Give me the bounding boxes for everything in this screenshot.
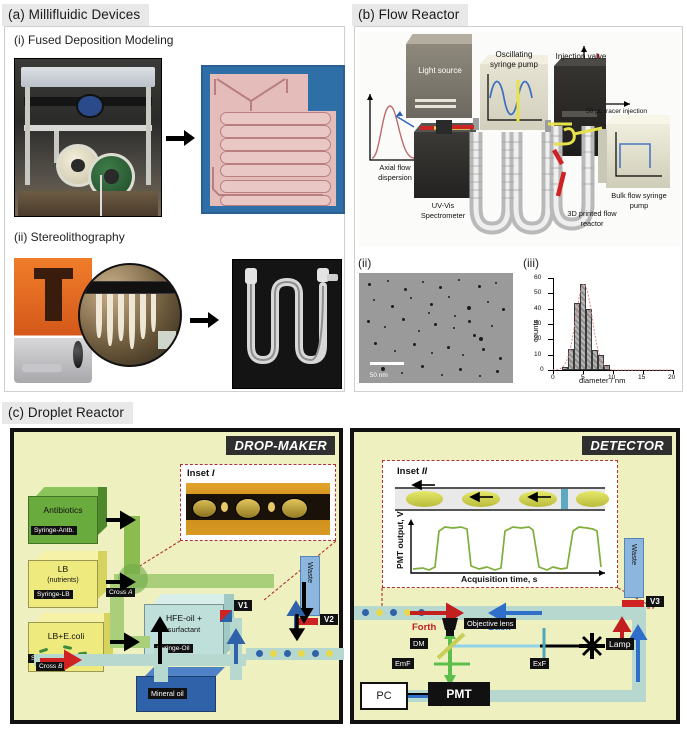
sla-resin-inset-photo bbox=[78, 263, 182, 367]
axial-dispersion-label-2: dispersion bbox=[364, 174, 426, 183]
light-source-box bbox=[406, 44, 472, 118]
printed-reactor-label-2: reactor bbox=[552, 220, 632, 229]
oscillating-pump-label-2: syringe pump bbox=[472, 60, 556, 69]
dropmaker-title: DROP-MAKER bbox=[226, 436, 335, 455]
channel-detector-bottom bbox=[378, 690, 646, 702]
inset-ii-channel bbox=[395, 487, 605, 511]
arrow-fdm-to-chip bbox=[166, 130, 195, 146]
channel-detector-right-vertical bbox=[632, 606, 646, 702]
panel-a-tag: (a) Millifluidic Devices bbox=[2, 4, 149, 26]
forth-label: Forth bbox=[412, 622, 436, 633]
v2-valve-icon bbox=[298, 618, 318, 625]
histogram-x-title: diameter / nm bbox=[579, 376, 625, 385]
histogram-y-tick bbox=[548, 355, 553, 356]
lb-syringe-tag: Syringe-LB bbox=[34, 590, 73, 599]
uvvis-label-2: Spectrometer bbox=[404, 212, 482, 221]
histogram-y-tick-label: 10 bbox=[534, 351, 541, 358]
channel-cross-b bbox=[34, 654, 246, 666]
dropmaker-box: DROP-MAKER Inset I bbox=[10, 428, 343, 724]
bulk-pump-label-1: Bulk flow syringe bbox=[600, 192, 678, 201]
histogram-x-tick-label: 15 bbox=[638, 374, 645, 381]
tem-scale-bar-label: 50 nm bbox=[370, 372, 388, 379]
lb-sublabel: (nutrients) bbox=[28, 577, 98, 584]
tem-micrograph: 50 nm bbox=[359, 273, 513, 383]
v2-label: V2 bbox=[320, 614, 338, 625]
hfe-oil-label-1: HFE-oil + bbox=[144, 614, 224, 623]
cross-b-label: Cross B bbox=[36, 662, 65, 671]
inset-i-title: Inset I bbox=[187, 468, 214, 479]
oscillating-pump-box bbox=[480, 64, 548, 130]
flow-reactor-schematic: Light source UV-Vis Spectrometer Axial f… bbox=[358, 32, 680, 247]
size-histogram-chart: 0102030405060 05101520 diameter / nm cou… bbox=[523, 270, 681, 388]
panel-b-tag: (b) Flow Reactor bbox=[352, 4, 468, 26]
subpanel-a-i-tag: (i) Fused Deposition Modeling bbox=[14, 33, 173, 47]
v3-label: V3 bbox=[646, 596, 664, 607]
antibiotics-label: Antibiotics bbox=[28, 506, 98, 515]
lamp-label: Lamp bbox=[606, 638, 634, 650]
excitation-filter-label: ExF bbox=[530, 658, 549, 669]
pmt-output-axis-label: PMT output, V bbox=[395, 511, 405, 569]
figure-root: (a) Millifluidic Devices (i) Fused Depos… bbox=[0, 0, 687, 732]
histogram-y-tick-label: 0 bbox=[540, 366, 544, 373]
bulk-pump-box bbox=[606, 124, 670, 188]
channel-to-v2 bbox=[154, 648, 168, 682]
subpanel-a-ii-tag: (ii) Stereolithography bbox=[14, 230, 125, 244]
pmt-block: PMT bbox=[428, 682, 490, 706]
channel-ecoli-h bbox=[110, 636, 150, 648]
printed-reactor-label-1: 3D printed flow bbox=[552, 210, 632, 219]
light-source-label: Light source bbox=[412, 66, 468, 75]
channel-oil-down bbox=[230, 618, 242, 680]
v3-valve-icon bbox=[622, 600, 644, 607]
histogram-y-tick bbox=[548, 293, 553, 294]
histogram-x-tick-label: 20 bbox=[668, 374, 675, 381]
antibiotics-cube bbox=[28, 496, 98, 544]
axial-dispersion-label-1: Axial flow bbox=[364, 164, 426, 173]
fdm-chip-photo bbox=[201, 65, 345, 214]
injection-valve-label: Injection valve bbox=[548, 52, 614, 61]
waste-label-dropmaker: Waste bbox=[306, 562, 315, 583]
ecoli-label: LB+E.coli bbox=[26, 632, 106, 641]
v1-label: V1 bbox=[234, 600, 252, 611]
hfe-oil-label-2: surfactant bbox=[144, 626, 224, 634]
emission-filter-label: EmF bbox=[392, 658, 414, 669]
inset-i: Inset I bbox=[180, 464, 336, 541]
inset-ii: Inset II bbox=[382, 460, 618, 588]
histogram-y-tick bbox=[548, 309, 553, 310]
sla-reactor-photo bbox=[232, 259, 342, 389]
oscillating-pump-label-1: Oscillating bbox=[474, 50, 554, 59]
dichroic-mirror-label: DM bbox=[410, 638, 428, 649]
histogram-y-tick bbox=[548, 278, 553, 279]
histogram-y-tick bbox=[548, 339, 553, 340]
detector-box: DETECTOR Inset II bbox=[350, 428, 680, 724]
uvvis-label-1: UV-Vis bbox=[410, 202, 476, 211]
histogram-y-tick-label: 40 bbox=[534, 305, 541, 312]
acquisition-time-axis-label: Acquisition time, s bbox=[461, 574, 537, 584]
histogram-x-tick-label: 0 bbox=[551, 374, 555, 381]
cross-a-label: Cross A bbox=[106, 588, 135, 597]
tracer-injection-label: 50 µL tracer injection bbox=[586, 108, 647, 116]
histogram-bar bbox=[604, 365, 610, 370]
v1-valve-icon bbox=[220, 610, 232, 622]
lb-label: LB bbox=[28, 565, 98, 574]
subpanel-b-ii-tag: (ii) bbox=[358, 256, 371, 270]
panel-c-tag: (c) Droplet Reactor bbox=[2, 402, 133, 424]
histogram-y-title: counts bbox=[531, 320, 540, 342]
waste-label-detector: Waste bbox=[630, 544, 639, 565]
detector-title: DETECTOR bbox=[582, 436, 672, 455]
antibiotics-syringe-tag: Syringe-Antb. bbox=[31, 526, 77, 535]
objective-lens-label: Objective lens bbox=[464, 618, 516, 629]
inset-ii-title: Inset II bbox=[397, 466, 427, 477]
subpanel-b-iii-tag: (iii) bbox=[523, 256, 539, 270]
arrow-sla-to-reactor bbox=[190, 312, 219, 328]
pc-block: PC bbox=[360, 682, 408, 710]
histogram-y-tick-label: 50 bbox=[534, 289, 541, 296]
histogram-y-tick bbox=[548, 324, 553, 325]
mineral-oil-label: Mineral oil bbox=[148, 688, 187, 699]
fdm-printer-photo bbox=[14, 58, 162, 217]
histogram-y-tick-label: 60 bbox=[534, 274, 541, 281]
